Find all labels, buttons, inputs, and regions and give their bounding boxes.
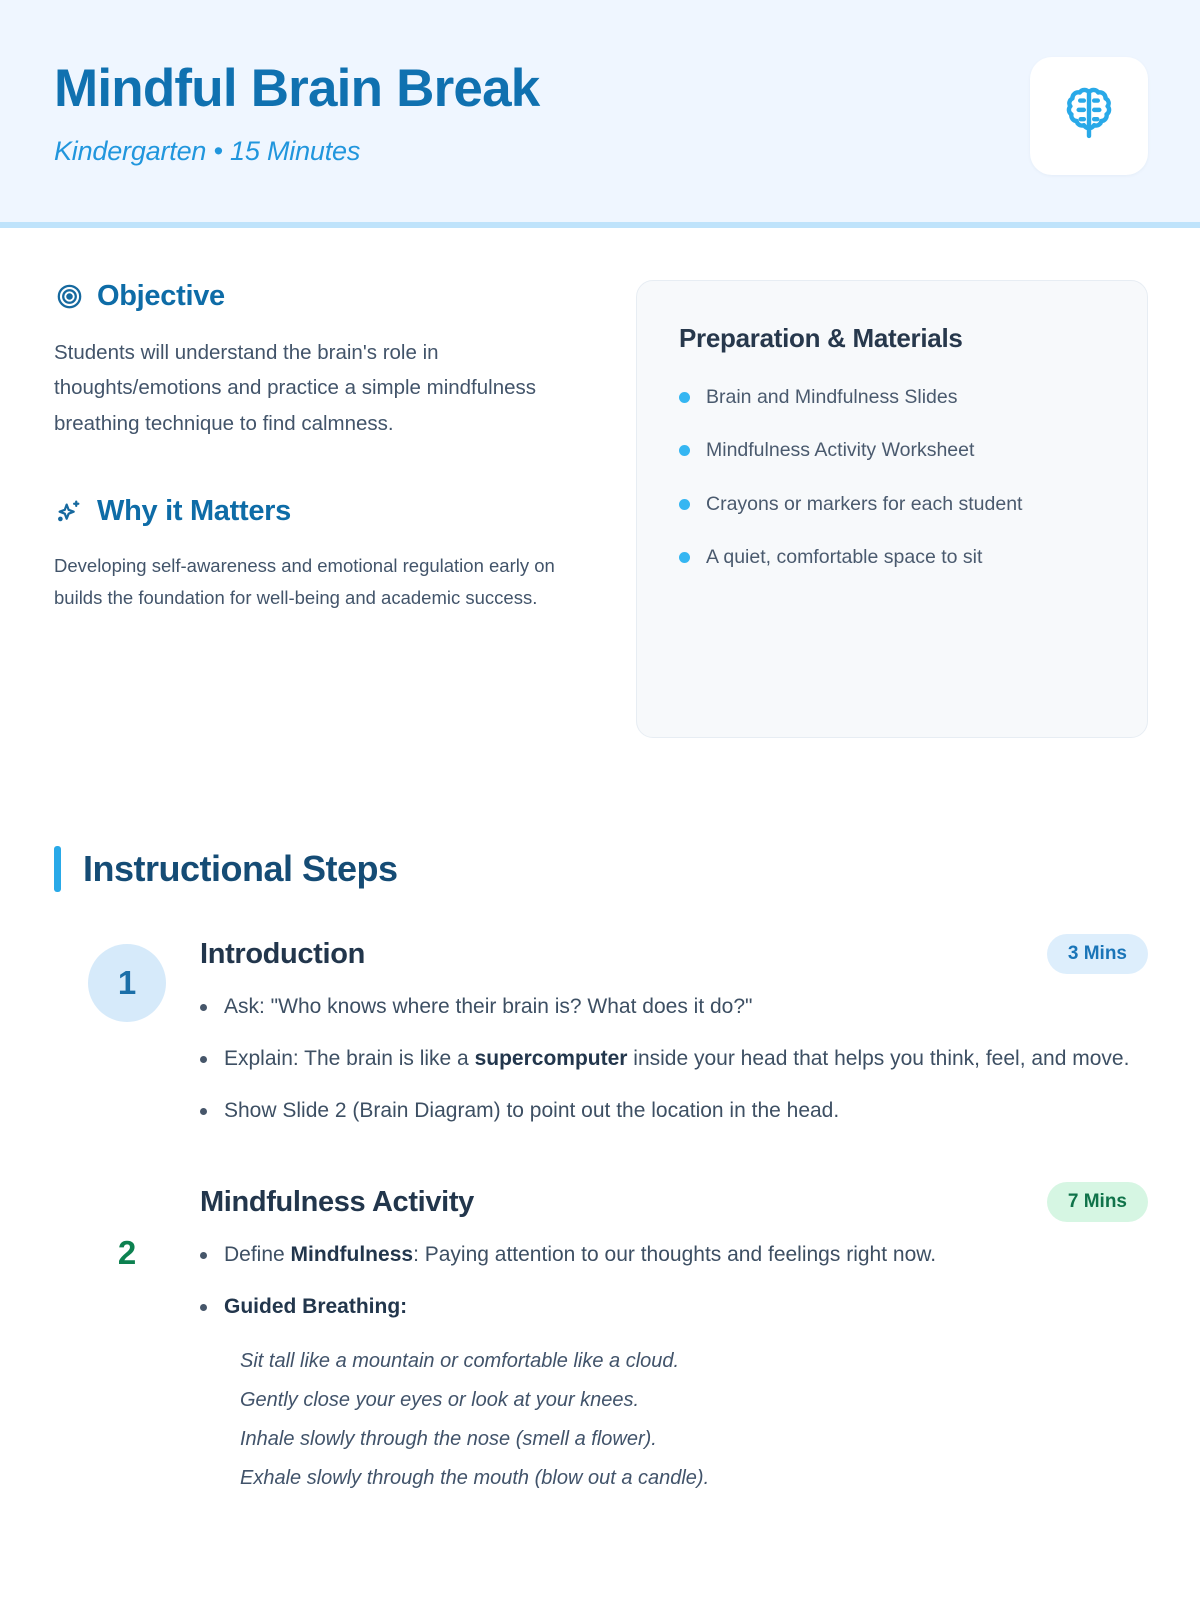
sparkles-icon bbox=[54, 496, 84, 526]
why-it-matters-heading-row: Why it Matters bbox=[54, 495, 584, 528]
preparation-list-item: Mindfulness Activity Worksheet bbox=[679, 437, 1107, 464]
bullet-dot-icon bbox=[200, 1056, 207, 1063]
step-bullet-text: Explain: The brain is like a supercomput… bbox=[224, 1042, 1148, 1076]
why-it-matters-text: Developing self-awareness and emotional … bbox=[54, 550, 584, 614]
bullet-dot-icon bbox=[200, 1108, 207, 1115]
step-title: Introduction bbox=[200, 938, 365, 971]
step-bullet-text: Ask: "Who knows where their brain is? Wh… bbox=[224, 990, 1148, 1024]
preparation-item-label: Brain and Mindfulness Slides bbox=[706, 384, 957, 411]
step-title-row: Mindfulness Activity7 Mins bbox=[200, 1182, 1148, 1222]
step-bullet-text: Guided Breathing: bbox=[224, 1290, 1148, 1324]
step-subline: Sit tall like a mountain or comfortable … bbox=[240, 1342, 1148, 1381]
step-title: Mindfulness Activity bbox=[200, 1186, 474, 1219]
bullet-dot-icon bbox=[679, 499, 690, 510]
step-bullet-list: Ask: "Who knows where their brain is? Wh… bbox=[200, 990, 1148, 1128]
header-text-block: Mindful Brain Break Kindergarten • 15 Mi… bbox=[54, 55, 539, 167]
step-title-row: Introduction3 Mins bbox=[200, 934, 1148, 974]
step-body: Mindfulness Activity7 MinsDefine Mindful… bbox=[200, 1182, 1148, 1498]
step-marker: 2 bbox=[54, 1182, 200, 1270]
instructional-steps-heading: Instructional Steps bbox=[83, 848, 398, 890]
step-bullet-text: Define Mindfulness: Paying attention to … bbox=[224, 1238, 1148, 1272]
preparation-item-label: A quiet, comfortable space to sit bbox=[706, 544, 982, 571]
objective-text: Students will understand the brain's rol… bbox=[54, 335, 584, 441]
objective-heading: Objective bbox=[97, 280, 225, 313]
step-bullet-list: Define Mindfulness: Paying attention to … bbox=[200, 1238, 1148, 1324]
step-subline: Exhale slowly through the mouth (blow ou… bbox=[240, 1459, 1148, 1498]
page-header: Mindful Brain Break Kindergarten • 15 Mi… bbox=[0, 0, 1200, 228]
bullet-dot-icon bbox=[679, 552, 690, 563]
step-item: 2Mindfulness Activity7 MinsDefine Mindfu… bbox=[54, 1182, 1148, 1498]
preparation-item-label: Crayons or markers for each student bbox=[706, 491, 1022, 518]
preparation-list: Brain and Mindfulness SlidesMindfulness … bbox=[679, 384, 1107, 571]
step-subline-group: Sit tall like a mountain or comfortable … bbox=[200, 1342, 1148, 1498]
preparation-list-item: A quiet, comfortable space to sit bbox=[679, 544, 1107, 571]
step-number: 2 bbox=[88, 1192, 166, 1270]
preparation-list-item: Crayons or markers for each student bbox=[679, 491, 1107, 518]
step-item: 1Introduction3 MinsAsk: "Who knows where… bbox=[54, 934, 1148, 1146]
target-icon bbox=[54, 282, 84, 312]
steps-list: 1Introduction3 MinsAsk: "Who knows where… bbox=[54, 934, 1148, 1498]
preparation-list-item: Brain and Mindfulness Slides bbox=[679, 384, 1107, 411]
duration-badge: 7 Mins bbox=[1047, 1182, 1148, 1222]
accent-bar bbox=[54, 846, 61, 892]
step-bullet-item: Ask: "Who knows where their brain is? Wh… bbox=[200, 990, 1148, 1024]
step-marker: 1 bbox=[54, 934, 200, 1022]
step-bullet-item: Show Slide 2 (Brain Diagram) to point ou… bbox=[200, 1094, 1148, 1128]
brain-icon bbox=[1058, 83, 1120, 150]
bullet-dot-icon bbox=[200, 1304, 207, 1311]
page-title: Mindful Brain Break bbox=[54, 59, 539, 118]
section-spacer bbox=[54, 441, 584, 495]
preparation-card: Preparation & Materials Brain and Mindfu… bbox=[636, 280, 1148, 738]
preparation-item-label: Mindfulness Activity Worksheet bbox=[706, 437, 974, 464]
step-body: Introduction3 MinsAsk: "Who knows where … bbox=[200, 934, 1148, 1146]
instructional-steps-section: Instructional Steps 1Introduction3 MinsA… bbox=[54, 846, 1148, 1498]
overview-grid: Objective Students will understand the b… bbox=[54, 280, 1148, 738]
page-subtitle: Kindergarten • 15 Minutes bbox=[54, 136, 539, 167]
brain-logo-badge bbox=[1030, 57, 1148, 175]
page-content: Objective Students will understand the b… bbox=[0, 228, 1200, 1498]
step-bullet-item: Guided Breathing: bbox=[200, 1290, 1148, 1324]
duration-badge: 3 Mins bbox=[1047, 934, 1148, 974]
objective-heading-row: Objective bbox=[54, 280, 584, 313]
step-subline: Inhale slowly through the nose (smell a … bbox=[240, 1420, 1148, 1459]
overview-left-column: Objective Students will understand the b… bbox=[54, 280, 584, 613]
step-bullet-text: Show Slide 2 (Brain Diagram) to point ou… bbox=[224, 1094, 1148, 1128]
step-bullet-item: Explain: The brain is like a supercomput… bbox=[200, 1042, 1148, 1076]
why-it-matters-heading: Why it Matters bbox=[97, 495, 291, 528]
overview-right-column: Preparation & Materials Brain and Mindfu… bbox=[636, 280, 1148, 738]
step-number: 1 bbox=[88, 944, 166, 1022]
bullet-dot-icon bbox=[200, 1252, 207, 1259]
step-subline: Gently close your eyes or look at your k… bbox=[240, 1381, 1148, 1420]
bullet-dot-icon bbox=[200, 1004, 207, 1011]
bullet-dot-icon bbox=[679, 445, 690, 456]
preparation-heading: Preparation & Materials bbox=[679, 323, 1107, 354]
bullet-dot-icon bbox=[679, 392, 690, 403]
instructional-steps-heading-row: Instructional Steps bbox=[54, 846, 1148, 892]
step-bullet-item: Define Mindfulness: Paying attention to … bbox=[200, 1238, 1148, 1272]
